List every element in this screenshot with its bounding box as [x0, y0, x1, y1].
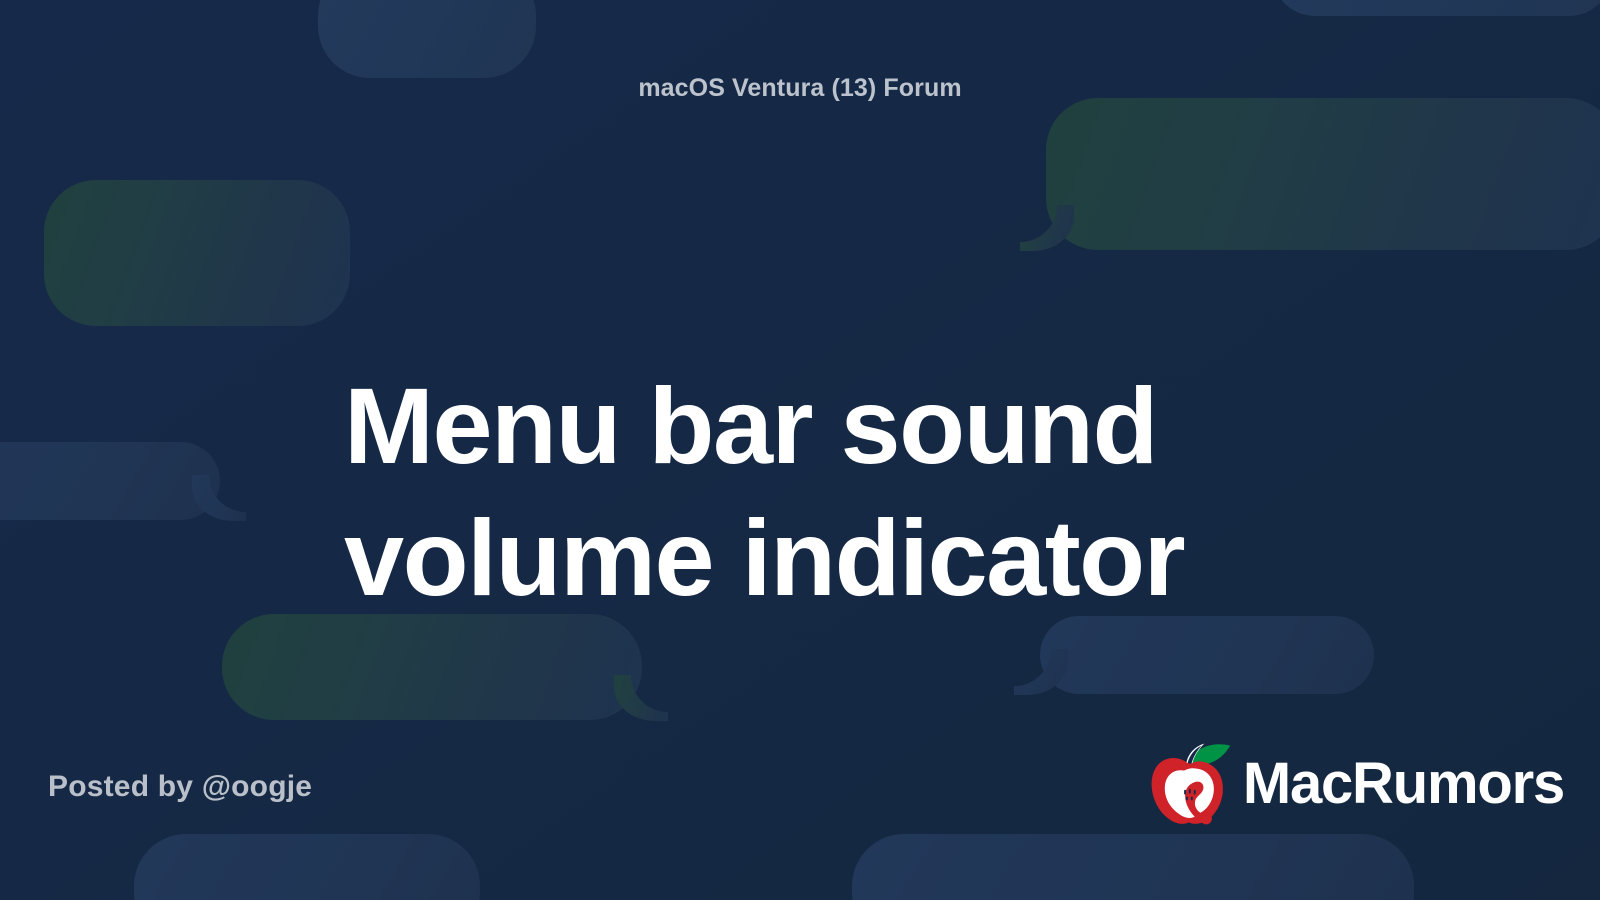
macrumors-wordmark: MacRumors: [1243, 755, 1564, 813]
page-title: Menu bar sound volume indicator: [344, 360, 1344, 624]
forum-name-label: macOS Ventura (13) Forum: [0, 74, 1600, 103]
posted-by-label: Posted by @oogje: [48, 770, 312, 804]
forum-share-banner: macOS Ventura (13) Forum Menu bar sound …: [0, 0, 1600, 900]
apple-question-mark-icon: [1139, 736, 1235, 832]
macrumors-logo: MacRumors: [1139, 736, 1564, 832]
